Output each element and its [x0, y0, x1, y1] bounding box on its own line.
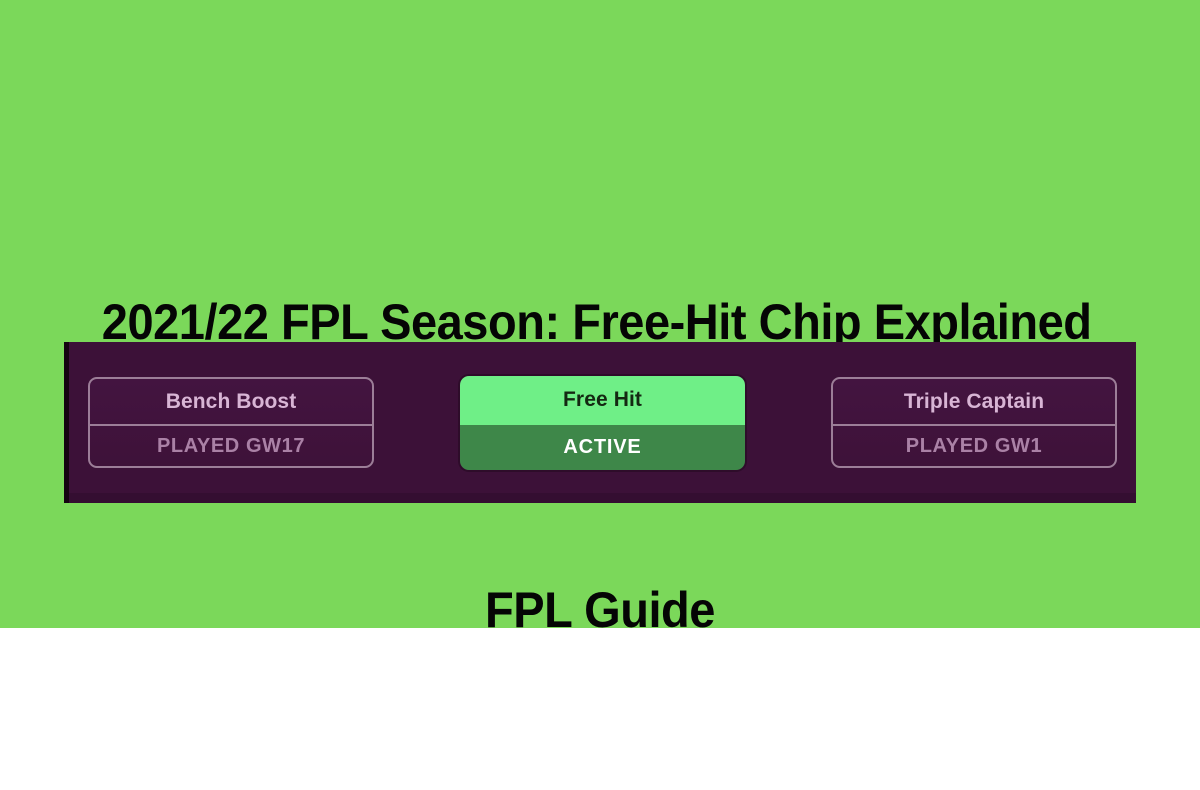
chip-triple-captain[interactable]: Triple Captain PLAYED GW1: [831, 377, 1117, 468]
fpl-chips-panel: Bench Boost PLAYED GW17 Free Hit ACTIVE …: [64, 342, 1136, 503]
chip-triple-captain-status: PLAYED GW1: [833, 426, 1115, 466]
page-canvas: 2021/22 FPL Season: Free-Hit Chip Explai…: [0, 0, 1200, 628]
chip-free-hit[interactable]: Free Hit ACTIVE: [460, 376, 745, 470]
chip-bench-boost-status: PLAYED GW17: [90, 426, 372, 466]
chip-bench-boost[interactable]: Bench Boost PLAYED GW17: [88, 377, 374, 468]
page-title-line-2: FPL Guide: [100, 574, 1100, 646]
chips-row: Bench Boost PLAYED GW17 Free Hit ACTIVE …: [69, 342, 1136, 503]
chip-free-hit-label: Free Hit: [460, 376, 745, 425]
chip-free-hit-status: ACTIVE: [460, 425, 745, 470]
chip-triple-captain-label: Triple Captain: [833, 379, 1115, 426]
chip-bench-boost-label: Bench Boost: [90, 379, 372, 426]
